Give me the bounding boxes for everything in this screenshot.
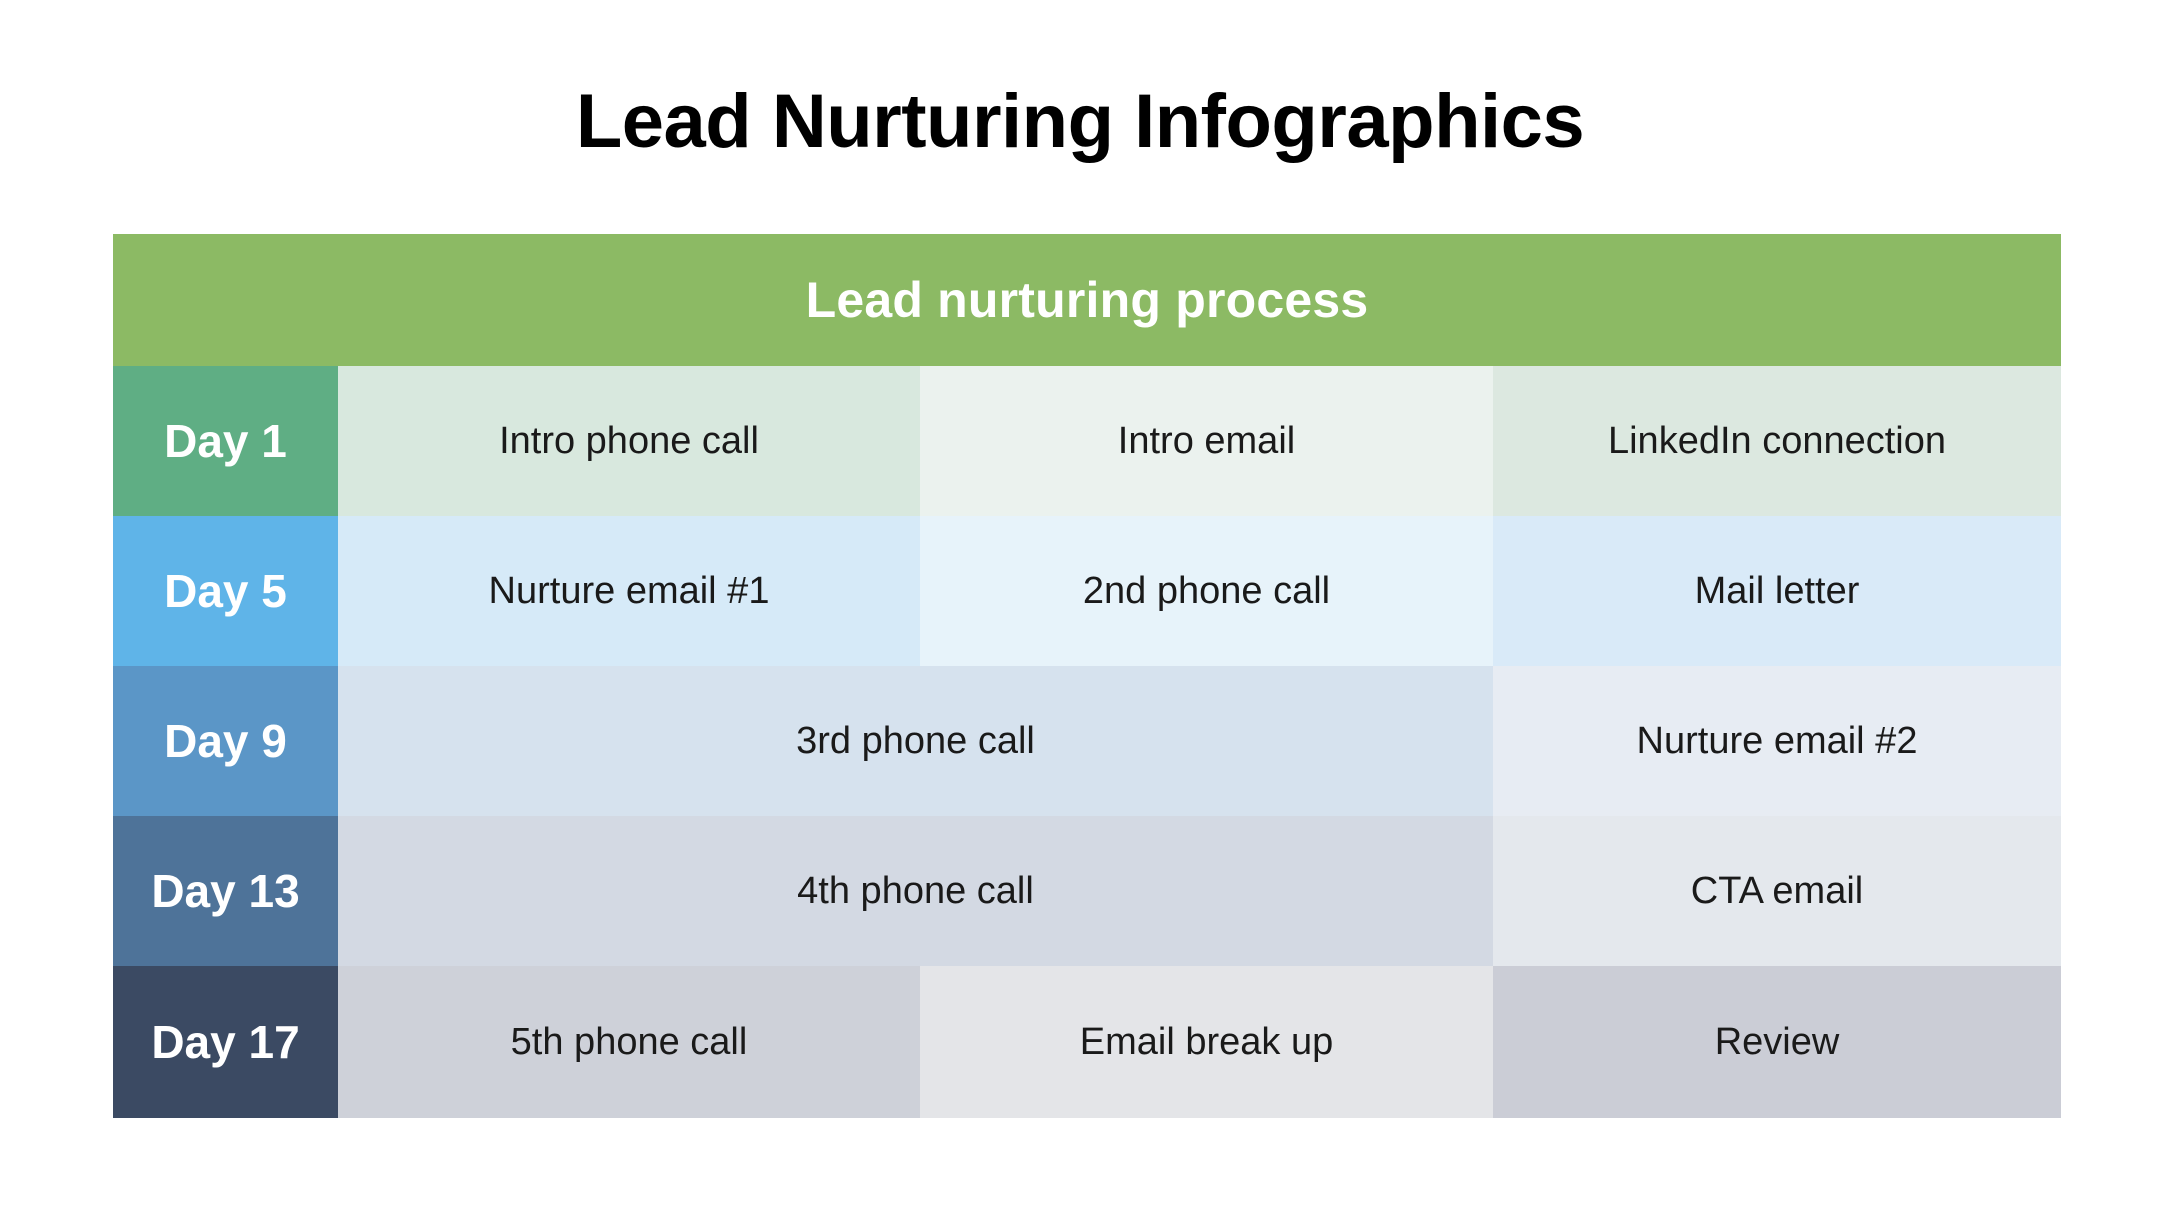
day-label-text: Day 1 xyxy=(164,414,287,468)
activity-cell[interactable]: Mail letter xyxy=(1493,516,2061,666)
table-row: Day 1Intro phone callIntro emailLinkedIn… xyxy=(113,366,2061,516)
day-label-cell[interactable]: Day 1 xyxy=(113,366,338,516)
day-label-cell[interactable]: Day 17 xyxy=(113,966,338,1118)
table-row: Day 134th phone callCTA email xyxy=(113,816,2061,966)
activity-cell[interactable]: Review xyxy=(1493,966,2061,1118)
row-cells: 3rd phone callNurture email #2 xyxy=(338,666,2061,816)
day-label-text: Day 13 xyxy=(151,864,299,918)
table-row: Day 175th phone callEmail break upReview xyxy=(113,966,2061,1118)
day-label-cell[interactable]: Day 5 xyxy=(113,516,338,666)
table-header-band: Lead nurturing process xyxy=(113,234,2061,366)
row-cells: Nurture email #12nd phone callMail lette… xyxy=(338,516,2061,666)
activity-cell[interactable]: Email break up xyxy=(920,966,1493,1118)
table-row: Day 5Nurture email #12nd phone callMail … xyxy=(113,516,2061,666)
day-label-cell[interactable]: Day 13 xyxy=(113,816,338,966)
activity-cell[interactable]: Intro email xyxy=(920,366,1493,516)
table-row: Day 93rd phone callNurture email #2 xyxy=(113,666,2061,816)
lead-nurturing-table: Lead nurturing process Day 1Intro phone … xyxy=(113,234,2061,1118)
activity-cell[interactable]: Intro phone call xyxy=(338,366,920,516)
row-cells: 5th phone callEmail break upReview xyxy=(338,966,2061,1118)
row-cells: 4th phone callCTA email xyxy=(338,816,2061,966)
activity-cell[interactable]: Nurture email #1 xyxy=(338,516,920,666)
row-cells: Intro phone callIntro emailLinkedIn conn… xyxy=(338,366,2061,516)
activity-cell[interactable]: 5th phone call xyxy=(338,966,920,1118)
day-label-text: Day 5 xyxy=(164,564,287,618)
page-title: Lead Nurturing Infographics xyxy=(0,82,2160,162)
table-header-label: Lead nurturing process xyxy=(806,271,1369,329)
activity-cell[interactable]: 3rd phone call xyxy=(338,666,1493,816)
activity-cell[interactable]: Nurture email #2 xyxy=(1493,666,2061,816)
infographic-canvas: Lead Nurturing Infographics Lead nurturi… xyxy=(0,0,2160,1215)
activity-cell[interactable]: CTA email xyxy=(1493,816,2061,966)
activity-cell[interactable]: LinkedIn connection xyxy=(1493,366,2061,516)
activity-cell[interactable]: 4th phone call xyxy=(338,816,1493,966)
activity-cell[interactable]: 2nd phone call xyxy=(920,516,1493,666)
day-label-cell[interactable]: Day 9 xyxy=(113,666,338,816)
day-label-text: Day 17 xyxy=(151,1015,299,1069)
day-label-text: Day 9 xyxy=(164,714,287,768)
table-body: Day 1Intro phone callIntro emailLinkedIn… xyxy=(113,366,2061,1118)
